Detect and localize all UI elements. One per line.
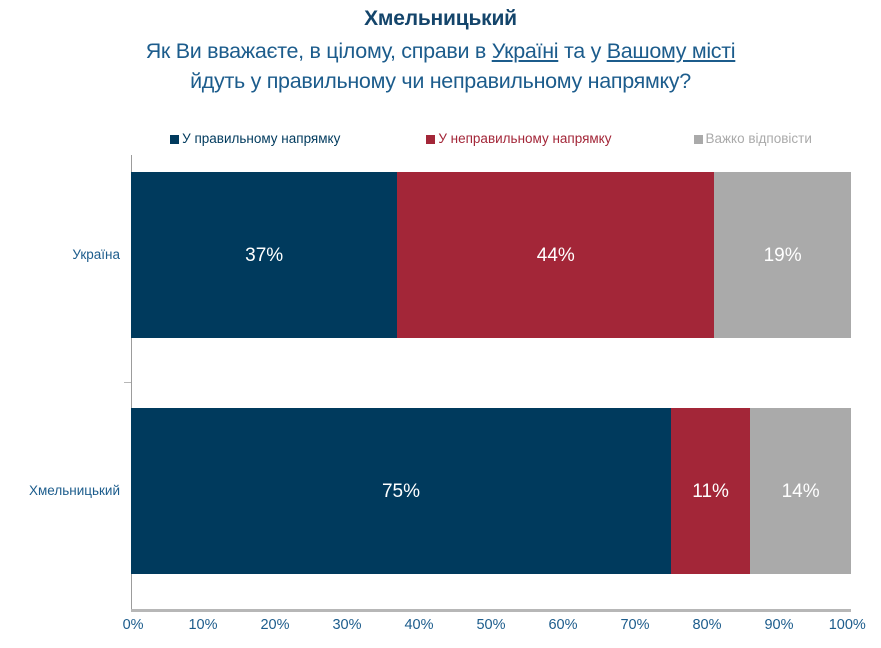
x-axis-tick-50: 50% xyxy=(476,616,505,634)
x-axis-tick-100: 100% xyxy=(829,616,866,634)
bar-segment-khmelnytskyi-wrong-direction[interactable]: 11% xyxy=(671,408,750,574)
x-axis-tick-80: 80% xyxy=(692,616,721,634)
bar-segment-khmelnytskyi-right-direction[interactable]: 75% xyxy=(131,408,671,574)
legend-item-hard-to-say[interactable]: Важко відповісти xyxy=(694,132,812,146)
x-axis-tick-10: 10% xyxy=(188,616,217,634)
bar-value-label: 44% xyxy=(537,246,575,265)
bar-value-label: 14% xyxy=(782,482,820,501)
chart-subtitle-line-2: йдуть у правильному чи неправильному нап… xyxy=(0,66,881,96)
x-axis-tick-60: 60% xyxy=(548,616,577,634)
y-axis-label-khmelnytskyi: Хмельницький xyxy=(29,483,120,499)
y-axis-label-ukraine: Україна xyxy=(72,247,120,263)
legend-label-hard-to-say: Важко відповісти xyxy=(706,132,812,146)
bar-row-khmelnytskyi: 75% 11% 14% xyxy=(131,408,851,574)
chart-legend: У правильному напрямку У неправильному н… xyxy=(131,128,851,150)
bar-value-label: 11% xyxy=(692,482,729,501)
legend-item-right-direction[interactable]: У правильному напрямку xyxy=(170,132,340,146)
x-axis-tick-30: 30% xyxy=(332,616,361,634)
x-axis-tick-labels: 0%10%20%30%40%50%60%70%80%90%100% xyxy=(131,616,851,640)
plot-area: 37% 44% 19% 75% 11% 14% xyxy=(131,155,851,609)
bar-value-label: 19% xyxy=(764,246,802,265)
chart-subtitle: Як Ви вважаєте, в цілому, справи в Украї… xyxy=(0,36,881,96)
bar-value-label: 75% xyxy=(382,482,420,501)
chart-header: Хмельницький Як Ви вважаєте, в цілому, с… xyxy=(0,0,881,96)
page-title: Хмельницький xyxy=(0,6,881,32)
x-axis-line xyxy=(131,609,851,612)
bar-row-ukraine: 37% 44% 19% xyxy=(131,172,851,338)
legend-swatch-icon-hard-to-say xyxy=(694,135,703,144)
subtitle-underline-your-city: Вашому місті xyxy=(607,39,736,63)
bar-value-label: 37% xyxy=(245,246,283,265)
subtitle-text-mid: та у xyxy=(558,39,606,63)
bar-segment-ukraine-wrong-direction[interactable]: 44% xyxy=(397,172,714,338)
x-axis-tick-70: 70% xyxy=(620,616,649,634)
legend-item-wrong-direction[interactable]: У неправильному напрямку xyxy=(426,132,611,146)
x-axis-tick-20: 20% xyxy=(260,616,289,634)
y-axis-category-labels: Україна Хмельницький xyxy=(0,155,124,609)
chart-subtitle-line-1: Як Ви вважаєте, в цілому, справи в Украї… xyxy=(0,36,881,66)
x-axis-tick-40: 40% xyxy=(404,616,433,634)
bar-segment-khmelnytskyi-hard-to-say[interactable]: 14% xyxy=(750,408,851,574)
legend-swatch-icon-wrong-direction xyxy=(426,135,435,144)
x-axis-tick-90: 90% xyxy=(764,616,793,634)
bar-segment-ukraine-hard-to-say[interactable]: 19% xyxy=(714,172,851,338)
legend-label-right-direction: У правильному напрямку xyxy=(182,132,340,146)
x-axis-tick-0: 0% xyxy=(123,616,144,634)
bar-segment-ukraine-right-direction[interactable]: 37% xyxy=(131,172,397,338)
subtitle-underline-ukraine: Україні xyxy=(492,39,559,63)
legend-swatch-icon-right-direction xyxy=(170,135,179,144)
y-axis-tick-mark xyxy=(124,382,131,383)
subtitle-text-pre: Як Ви вважаєте, в цілому, справи в xyxy=(146,39,492,63)
legend-label-wrong-direction: У неправильному напрямку xyxy=(438,132,611,146)
